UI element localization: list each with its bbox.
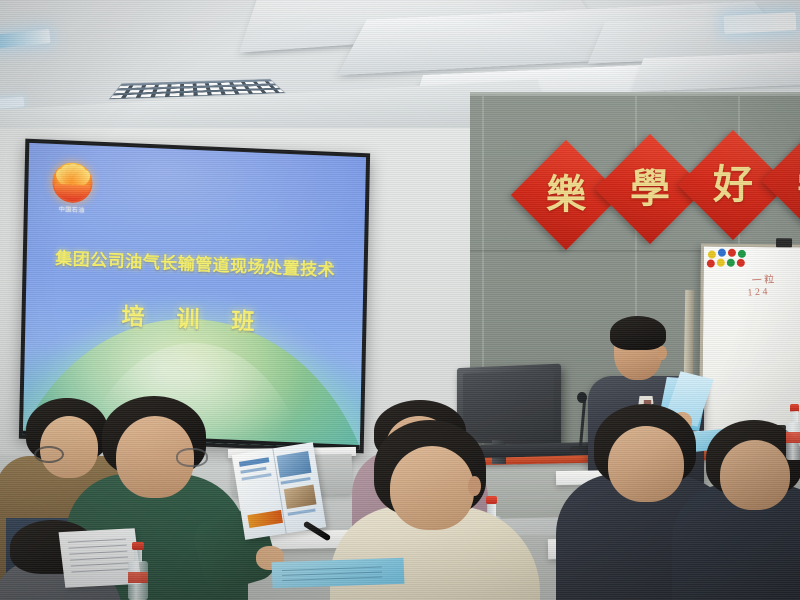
magnet[interactable]	[718, 249, 726, 257]
whiteboard-writing-line-1: 一 粒	[751, 270, 774, 286]
magnet[interactable]	[708, 251, 716, 259]
water-bottle[interactable]	[128, 542, 148, 600]
microphone-head	[577, 392, 587, 403]
conference-room-photo: 中国石油 集团公司油气长输管道现场处置技术 培 训 班 樂 學 好 學 一 粒 …	[0, 0, 800, 600]
presenter-hair	[610, 316, 666, 350]
blue-handout-sheet	[272, 558, 405, 589]
magnet[interactable]	[737, 259, 745, 267]
presenter-ear	[657, 346, 667, 360]
person-head	[390, 446, 474, 530]
plaque-character: 學	[611, 150, 689, 228]
whiteboard-clip	[776, 238, 792, 247]
magnet[interactable]	[717, 259, 725, 267]
glasses	[34, 446, 64, 463]
whiteboard: 一 粒 1 2 4	[699, 243, 800, 440]
glasses	[176, 448, 208, 467]
person-head	[608, 426, 684, 502]
water-bottle[interactable]	[786, 404, 800, 460]
lcd-monitor	[457, 364, 561, 447]
logo-label: 中国石油	[50, 204, 94, 215]
plaque-character: 學	[778, 142, 800, 220]
ceiling-light	[724, 12, 797, 34]
cnpc-petrochina-logo: 中国石油	[50, 162, 95, 216]
magnet[interactable]	[727, 259, 735, 267]
person-ear	[468, 476, 481, 496]
ceiling-light	[0, 29, 51, 49]
magnet[interactable]	[728, 249, 736, 257]
plaque-character: 樂	[527, 156, 605, 234]
plaque-character: 好	[694, 146, 772, 224]
magnet[interactable]	[738, 250, 746, 258]
person-head	[720, 440, 790, 510]
magnet[interactable]	[707, 260, 715, 268]
whiteboard-writing-line-2: 1 2 4	[747, 286, 768, 298]
